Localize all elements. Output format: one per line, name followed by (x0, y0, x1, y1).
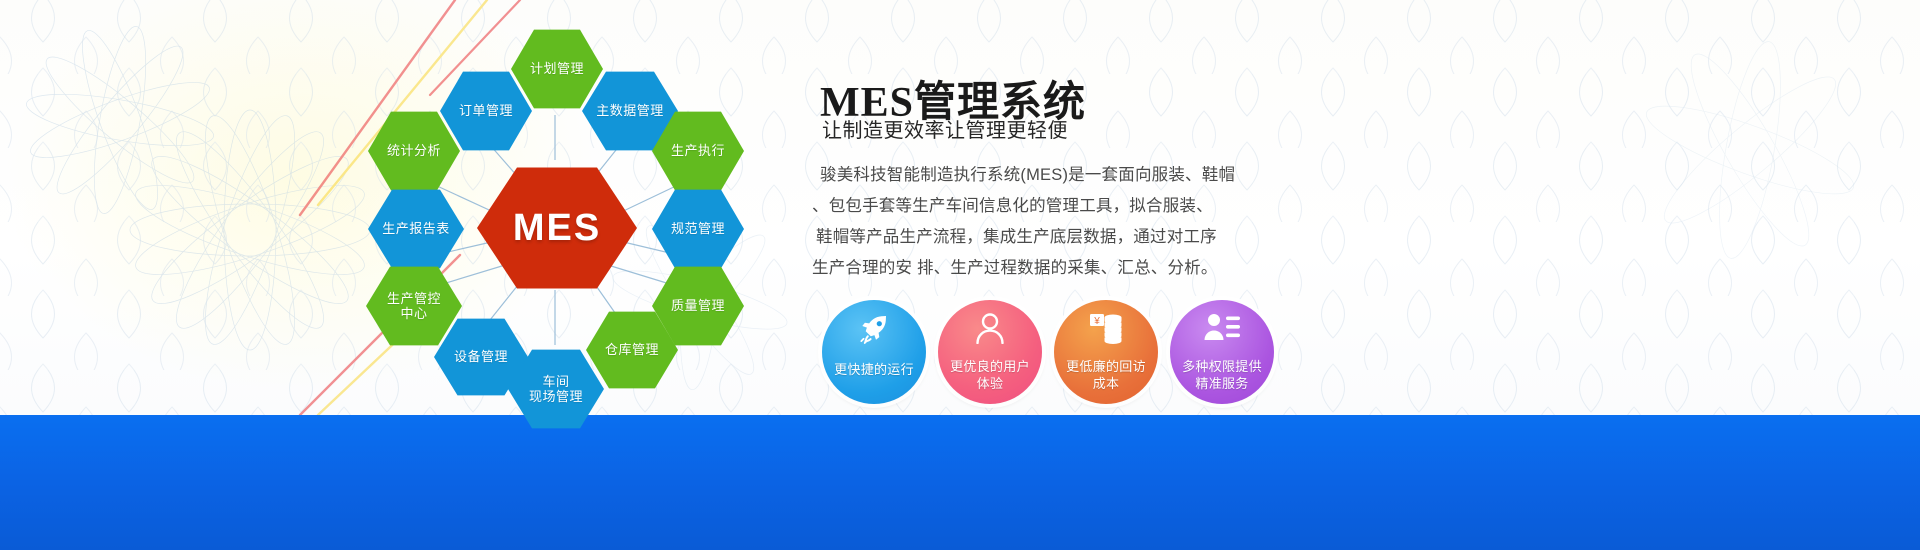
svg-text:¥: ¥ (1093, 316, 1100, 327)
hex-label: 规范管理 (671, 221, 725, 236)
hex-label: 计划管理 (530, 61, 584, 76)
core-label: MES (513, 206, 601, 251)
paragraph-line-2: 、包包手套等生产车间信息化的管理工具，拟合服装、 (812, 191, 1282, 222)
badge-line-1: 更快捷的运行 (834, 362, 914, 377)
badge-line-1: 多种权限提供 (1182, 359, 1262, 374)
badge-line-2: 成本 (1093, 376, 1120, 391)
paragraph-line-1: 骏美科技智能制造执行系统(MES)是一套面向服装、鞋帽 (812, 160, 1282, 191)
badge-faster-operation[interactable]: 更快捷的运行 (822, 300, 926, 404)
badge-line-2: 体验 (977, 376, 1004, 391)
money-stack-icon: ¥ (1054, 312, 1158, 344)
badge-label: 更优良的用户 体验 (950, 358, 1030, 392)
hex-label: 主数据管理 (596, 103, 664, 118)
badge-line-1: 更优良的用户 (950, 359, 1030, 374)
hex-label: 生产报告表 (382, 221, 450, 236)
banner-stage: 计划管理 订单管理 主数据管理 统计分析 生产执行 生产报告表 规范管理 生产管… (0, 0, 1920, 550)
badge-label: 多种权限提供 精准服务 (1182, 358, 1262, 392)
paragraph-line-3: 鞋帽等产品生产流程，集成生产底层数据，通过对工序 (812, 222, 1282, 253)
badge-line-2: 精准服务 (1195, 376, 1248, 391)
description-paragraph: 骏美科技智能制造执行系统(MES)是一套面向服装、鞋帽 、包包手套等生产车间信息… (812, 160, 1282, 284)
badge-permissions-precise-service[interactable]: 多种权限提供 精准服务 (1170, 300, 1274, 404)
paragraph-line-4: 生产合理的安 排、生产过程数据的采集、汇总、分析。 (812, 253, 1282, 284)
hex-label: 生产执行 (671, 143, 725, 158)
badge-label: 更快捷的运行 (834, 361, 914, 378)
hex-label: 仓库管理 (605, 342, 659, 357)
rocket-icon (822, 312, 926, 346)
page-subtitle: 让制造更效率让管理更轻便 (822, 114, 1068, 143)
hex-label: 设备管理 (454, 349, 508, 364)
badge-lower-revisit-cost[interactable]: ¥ 更低廉的回访 成本 (1054, 300, 1158, 404)
hex-label: 统计分析 (387, 143, 441, 158)
banner-text-column: MES管理系统 让制造更效率让管理更轻便 骏美科技智能制造执行系统(MES)是一… (812, 0, 1372, 550)
hex-label: 车间现场管理 (529, 374, 583, 405)
feature-badge-row: 更快捷的运行 更优良的用户 体验 (810, 300, 1430, 410)
badge-better-user-experience[interactable]: 更优良的用户 体验 (938, 300, 1042, 404)
badge-line-1: 更低廉的回访 (1066, 359, 1146, 374)
hex-label: 质量管理 (671, 298, 725, 313)
badge-label: 更低廉的回访 成本 (1066, 358, 1146, 392)
hex-label: 生产管控中心 (387, 291, 441, 322)
user-list-icon (1170, 312, 1274, 342)
mes-hexagon-diagram: 计划管理 订单管理 主数据管理 统计分析 生产执行 生产报告表 规范管理 生产管… (330, 0, 800, 420)
user-icon (938, 312, 1042, 344)
hex-label: 订单管理 (459, 103, 513, 118)
